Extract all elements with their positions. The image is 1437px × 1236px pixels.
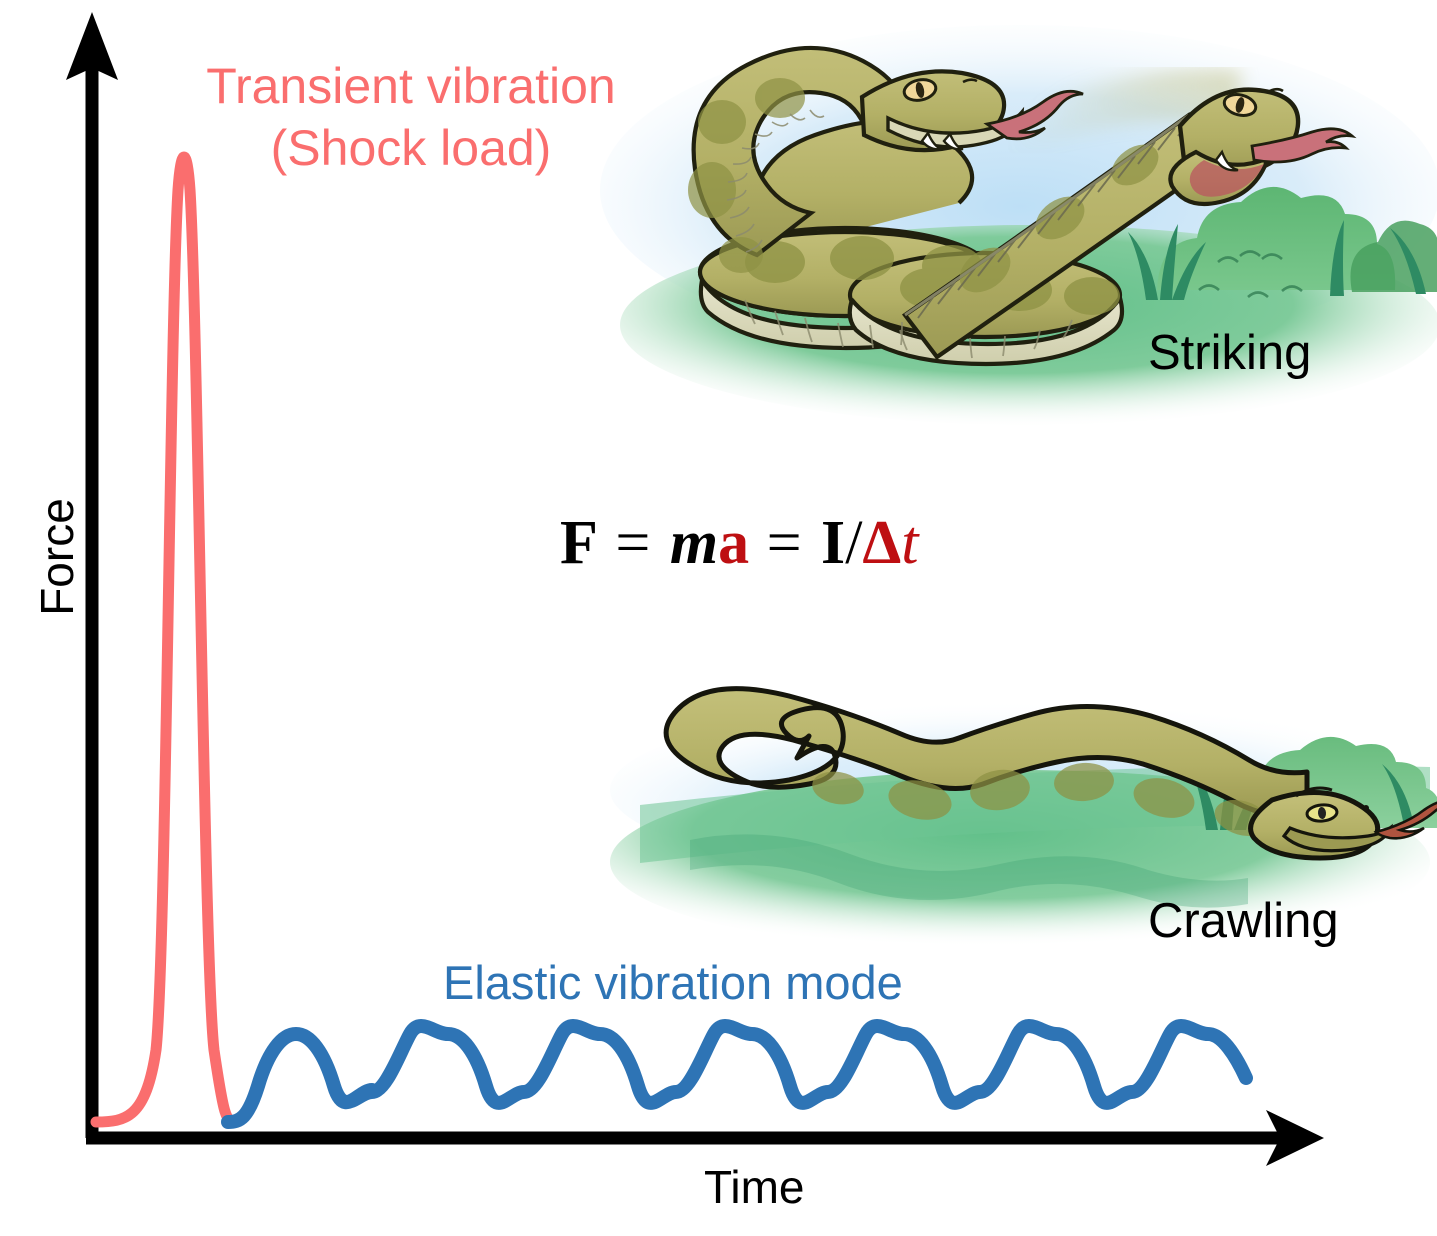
transient-vibration-label: Transient vibration (Shock load) xyxy=(176,55,646,179)
y-axis-label: Force xyxy=(30,498,84,616)
equation-token-F: F xyxy=(560,509,598,577)
equation-token-m: m xyxy=(670,509,718,577)
equation-token-t: t xyxy=(901,509,918,577)
equation-token-a: a xyxy=(718,509,749,577)
crawling-caption: Crawling xyxy=(1148,893,1339,949)
equation-token-slash: / xyxy=(845,509,862,577)
transient-label-line1: Transient vibration xyxy=(176,55,646,117)
figure-canvas: Transient vibration (Shock load) Elastic… xyxy=(0,0,1437,1236)
elastic-vibration-label: Elastic vibration mode xyxy=(443,955,903,1010)
force-impulse-equation: F = ma = I/Δt xyxy=(560,508,919,579)
elastic-vibration-curve xyxy=(228,1026,1246,1122)
transient-label-line2: (Shock load) xyxy=(176,117,646,179)
x-axis-label: Time xyxy=(704,1160,805,1214)
equation-token-delta: Δ xyxy=(862,509,901,577)
equation-token-I: I xyxy=(821,509,845,577)
x-axis xyxy=(86,1110,1324,1166)
striking-caption: Striking xyxy=(1148,325,1311,381)
equation-token-eq1: = xyxy=(598,509,670,577)
transient-shock-curve xyxy=(96,157,236,1122)
plot-axes-and-curves xyxy=(0,0,1437,1236)
equation-token-eq2: = xyxy=(749,509,821,577)
